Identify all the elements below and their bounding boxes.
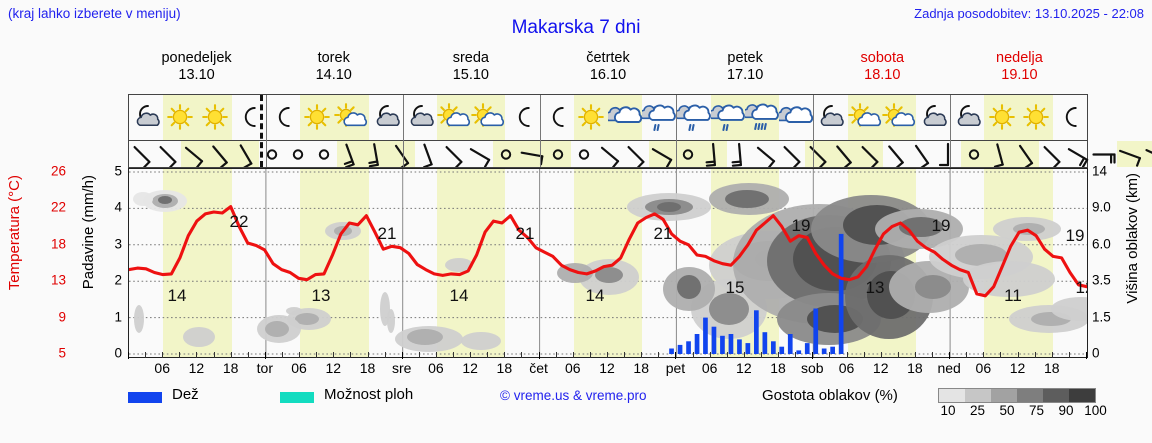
- x-axis-tick-label: 18: [770, 360, 786, 376]
- legend-swatch-showers: [280, 392, 314, 403]
- wind-barb: [831, 141, 857, 167]
- x-axis-tick: [470, 352, 471, 358]
- x-axis-tick: [556, 352, 557, 358]
- x-axis-tick-label: 06: [154, 360, 170, 376]
- sun-cloud-icon: [882, 95, 916, 140]
- wind-barb: [415, 141, 441, 167]
- x-axis-tick: [504, 352, 505, 358]
- cloud-density-tick-label: 90: [1058, 403, 1073, 418]
- wind-barb: [519, 141, 545, 167]
- wind-barb: [233, 141, 259, 167]
- sun-icon: [574, 95, 608, 140]
- day-header-strip: ponedeljek13.10torek14.10sreda15.10četrt…: [128, 50, 1088, 92]
- cloud-drizzle-icon: [711, 95, 745, 140]
- sun-cloud-icon: [437, 95, 471, 140]
- sun-icon: [1019, 95, 1053, 140]
- cloud-density-swatch: [1069, 389, 1095, 402]
- axis-tick-label: 0: [114, 346, 122, 361]
- x-axis-labels: 061218tor061218sre061218čet061218pet0612…: [118, 360, 1098, 380]
- wind-barb: [961, 141, 987, 167]
- weather-plot: 142213211421142115191319111912: [128, 168, 1088, 358]
- x-axis-tick: [350, 352, 351, 358]
- moon-icon: [540, 95, 574, 140]
- x-axis-tick: [436, 352, 437, 358]
- svg-text:14: 14: [586, 286, 605, 305]
- wind-barb: [571, 141, 597, 167]
- sun-cloud-icon: [334, 95, 368, 140]
- day-header-četrtek: četrtek16.10: [539, 50, 676, 92]
- x-axis-tick-label: 12: [1010, 360, 1026, 376]
- x-axis-ticks: [128, 352, 1088, 359]
- sun-icon: [984, 95, 1018, 140]
- day-date: 16.10: [539, 67, 676, 84]
- axis-tick-label: 2: [114, 273, 122, 288]
- moon-icon: [266, 95, 300, 140]
- x-axis-tick-label: 06: [839, 360, 855, 376]
- x-axis-tick: [1086, 352, 1087, 359]
- wind-barb: [623, 141, 649, 167]
- day-separator: [813, 95, 814, 167]
- day-name: četrtek: [586, 50, 630, 66]
- cloud-density-tick-label: 75: [1029, 403, 1044, 418]
- cloud-density-swatch: [939, 389, 965, 402]
- axis-tick-label: 0: [1092, 346, 1100, 361]
- x-axis-tick: [607, 352, 608, 358]
- x-axis-tick-label: 18: [360, 360, 376, 376]
- wind-barb: [857, 141, 883, 167]
- x-axis-tick: [248, 352, 249, 358]
- x-axis-tick-label: tor: [257, 360, 273, 376]
- svg-text:19: 19: [1066, 226, 1085, 245]
- x-axis-tick: [778, 352, 779, 358]
- cloud-height-axis-title: Višina oblakov (km): [1124, 173, 1148, 358]
- legend-label-showers: Možnost ploh: [324, 386, 413, 403]
- axis-tick-label: 13: [51, 273, 66, 288]
- x-axis-tick-label: 06: [976, 360, 992, 376]
- wind-barb: [155, 141, 181, 167]
- x-axis-tick: [265, 352, 266, 359]
- cloud-icon: [608, 95, 642, 140]
- cloud-icon: [779, 95, 813, 140]
- x-axis-tick-label: 12: [599, 360, 615, 376]
- cloud-density-label: Gostota oblakov (%): [762, 387, 898, 404]
- wind-barb: [363, 141, 389, 167]
- wind-barb-row: [129, 140, 1087, 167]
- x-axis-tick: [282, 352, 283, 358]
- wind-barb: [259, 141, 285, 167]
- precipitation-axis-ticks: 543210: [100, 168, 124, 358]
- precipitation-axis-title: Padavine (mm/h): [80, 175, 102, 355]
- wind-barb: [207, 141, 233, 167]
- day-name: petek: [727, 50, 762, 66]
- x-axis-tick: [487, 352, 488, 358]
- x-axis-tick-label: 12: [462, 360, 478, 376]
- cloud-density-tick-label: 10: [940, 403, 955, 418]
- day-header-sobota: sobota18.10: [814, 50, 951, 92]
- x-axis-tick: [539, 352, 540, 359]
- wind-barb: [805, 141, 831, 167]
- x-axis-tick: [795, 352, 796, 358]
- svg-text:19: 19: [932, 216, 951, 235]
- cloud-height-axis-title-text: Višina oblakov (km): [1124, 173, 1141, 304]
- x-axis-tick: [316, 352, 317, 358]
- x-axis-tick: [128, 352, 129, 359]
- svg-text:22: 22: [230, 212, 249, 231]
- wind-barb: [1117, 141, 1143, 167]
- wind-barb: [181, 141, 207, 167]
- x-axis-tick-label: sre: [392, 360, 411, 376]
- x-axis-tick: [864, 352, 865, 358]
- moon-cloud-icon: [129, 95, 163, 140]
- x-axis-tick: [368, 352, 369, 358]
- moon-cloud-icon: [950, 95, 984, 140]
- x-axis-tick: [231, 352, 232, 358]
- axis-tick-label: 26: [51, 164, 66, 179]
- wind-barb: [597, 141, 623, 167]
- moon-cloud-icon: [369, 95, 403, 140]
- x-axis-tick: [761, 352, 762, 358]
- day-header-nedelja: nedelja19.10: [951, 50, 1088, 92]
- day-date: 15.10: [402, 67, 539, 84]
- temperature-axis-title-text: Temperatura (°C): [6, 175, 23, 290]
- svg-text:21: 21: [378, 224, 397, 243]
- wind-barb: [1039, 141, 1065, 167]
- x-axis-tick: [573, 352, 574, 358]
- svg-text:11: 11: [1004, 286, 1022, 305]
- x-axis-tick-label: 18: [907, 360, 923, 376]
- temperature-axis-title: Temperatura (°C): [6, 175, 28, 355]
- wind-barb: [675, 141, 701, 167]
- wind-barb: [753, 141, 779, 167]
- axis-tick-label: 4: [114, 200, 122, 215]
- x-axis-tick: [829, 352, 830, 358]
- cloud-density-swatch: [1017, 389, 1043, 402]
- cloud-rain-icon: [745, 95, 779, 140]
- x-axis-tick: [915, 352, 916, 358]
- sun-icon: [197, 95, 231, 140]
- x-axis-tick: [1018, 352, 1019, 358]
- x-axis-tick: [333, 352, 334, 358]
- day-header-petek: petek17.10: [677, 50, 814, 92]
- day-separator: [540, 95, 541, 167]
- x-axis-tick-label: ned: [937, 360, 960, 376]
- weather-icon-row: [129, 95, 1087, 140]
- wind-barb: [337, 141, 363, 167]
- cloud-drizzle-icon: [677, 95, 711, 140]
- day-name: nedelja: [996, 50, 1043, 66]
- last-update-label: Zadnja posodobitev: 13.10.2025 - 22:08: [914, 6, 1144, 21]
- plot-canvas: 142213211421142115191319111912: [129, 169, 1087, 357]
- cloud-density-tick-label: 25: [970, 403, 985, 418]
- wind-barb: [311, 141, 337, 167]
- x-axis-tick: [590, 352, 591, 358]
- x-axis-tick-label: sob: [801, 360, 824, 376]
- x-axis-tick: [214, 352, 215, 358]
- x-axis-tick: [385, 352, 386, 358]
- axis-tick-label: 22: [51, 200, 66, 215]
- svg-text:21: 21: [516, 224, 535, 243]
- x-axis-tick-label: 12: [873, 360, 889, 376]
- x-axis-tick: [162, 352, 163, 358]
- copyright-link[interactable]: © vreme.us & vreme.pro: [500, 388, 647, 403]
- day-name: sreda: [453, 50, 489, 66]
- x-axis-tick: [675, 352, 676, 359]
- x-axis-tick: [966, 352, 967, 358]
- current-time-line: [260, 95, 263, 167]
- wind-barb: [545, 141, 571, 167]
- wind-barb: [883, 141, 909, 167]
- day-name: torek: [318, 50, 350, 66]
- x-axis-tick: [932, 352, 933, 358]
- x-axis-tick-label: čet: [529, 360, 548, 376]
- x-axis-tick-label: 12: [189, 360, 205, 376]
- axis-tick-label: 3.5: [1092, 273, 1111, 288]
- x-axis-tick-label: 06: [291, 360, 307, 376]
- day-name: sobota: [861, 50, 905, 66]
- day-separator: [266, 95, 267, 167]
- x-axis-tick: [1052, 352, 1053, 358]
- day-date: 19.10: [951, 67, 1088, 84]
- axis-tick-label: 9: [58, 309, 66, 324]
- wind-barb: [467, 141, 493, 167]
- x-axis-tick-label: 12: [736, 360, 752, 376]
- wind-barb: [1065, 141, 1091, 167]
- icon-wind-band: [128, 94, 1088, 168]
- moon-icon: [505, 95, 539, 140]
- x-axis-tick: [983, 352, 984, 358]
- svg-text:13: 13: [312, 286, 331, 305]
- cloud-density-swatch: [1043, 389, 1069, 402]
- sun-cloud-icon: [471, 95, 505, 140]
- wind-barb: [1013, 141, 1039, 167]
- x-axis-tick-label: 06: [428, 360, 444, 376]
- day-separator: [403, 95, 404, 167]
- sun-icon: [300, 95, 334, 140]
- x-axis-tick: [419, 352, 420, 358]
- axis-tick-label: 3: [114, 236, 122, 251]
- x-axis-tick: [898, 352, 899, 358]
- day-date: 14.10: [265, 67, 402, 84]
- axis-tick-label: 5: [58, 346, 66, 361]
- wind-barb: [441, 141, 467, 167]
- svg-text:13: 13: [866, 278, 885, 297]
- wind-barb: [935, 141, 961, 167]
- x-axis-tick: [693, 352, 694, 358]
- x-axis-tick-label: 06: [702, 360, 718, 376]
- wind-barb: [493, 141, 519, 167]
- day-name: ponedeljek: [161, 50, 231, 66]
- wind-barb: [701, 141, 727, 167]
- svg-text:19: 19: [792, 216, 811, 235]
- wind-barb: [779, 141, 805, 167]
- axis-tick-label: 14: [1092, 164, 1107, 179]
- x-axis-tick: [641, 352, 642, 358]
- x-axis-tick: [949, 352, 950, 359]
- x-axis-tick: [710, 352, 711, 358]
- svg-text:12: 12: [1076, 278, 1087, 297]
- x-axis-tick: [299, 352, 300, 358]
- x-axis-tick-label: 18: [223, 360, 239, 376]
- axis-tick-label: 9.0: [1092, 200, 1111, 215]
- cloud-density-tick-label: 50: [999, 403, 1014, 418]
- x-axis-tick-label: 18: [497, 360, 513, 376]
- x-axis-tick-label: pet: [666, 360, 685, 376]
- x-axis-tick: [145, 352, 146, 358]
- axis-tick-label: 1: [114, 309, 122, 324]
- legend-swatch-rain: [128, 392, 162, 403]
- sun-cloud-icon: [848, 95, 882, 140]
- x-axis-tick: [402, 352, 403, 359]
- cloud-height-axis-ticks: 149.06.03.51.50: [1092, 168, 1126, 358]
- x-axis-tick: [847, 352, 848, 358]
- x-axis-tick-label: 12: [325, 360, 341, 376]
- axis-tick-label: 5: [114, 164, 122, 179]
- svg-text:14: 14: [168, 286, 187, 305]
- sun-icon: [163, 95, 197, 140]
- x-axis-tick-label: 18: [1044, 360, 1060, 376]
- x-axis-tick: [881, 352, 882, 358]
- moon-cloud-icon: [403, 95, 437, 140]
- x-axis-tick: [1069, 352, 1070, 358]
- x-axis-tick: [1000, 352, 1001, 358]
- precipitation-axis-title-text: Padavine (mm/h): [80, 175, 97, 289]
- wind-barb: [649, 141, 675, 167]
- x-axis-tick-label: 18: [633, 360, 649, 376]
- moon-cloud-icon: [813, 95, 847, 140]
- axis-tick-label: 18: [51, 236, 66, 251]
- day-header-torek: torek14.10: [265, 50, 402, 92]
- temperature-axis-ticks: 2622181395: [34, 168, 66, 358]
- cloud-drizzle-icon: [642, 95, 676, 140]
- cloud-density-swatch: [965, 389, 991, 402]
- x-axis-tick: [196, 352, 197, 358]
- x-axis-tick-label: 06: [565, 360, 581, 376]
- svg-text:15: 15: [726, 278, 745, 297]
- x-axis-tick: [624, 352, 625, 358]
- x-axis-tick: [179, 352, 180, 358]
- cloud-density-colorbar: [938, 388, 1096, 403]
- x-axis-tick: [812, 352, 813, 359]
- x-axis-tick: [727, 352, 728, 358]
- day-separator: [676, 95, 677, 167]
- moon-icon: [1053, 95, 1087, 140]
- day-date: 18.10: [814, 67, 951, 84]
- x-axis-tick: [521, 352, 522, 358]
- wind-barb: [285, 141, 311, 167]
- x-axis-tick: [744, 352, 745, 358]
- cloud-density-tick-label: 100: [1084, 403, 1107, 418]
- wind-barb: [1143, 141, 1152, 167]
- legend-label-rain: Dež: [172, 386, 199, 403]
- day-header-sreda: sreda15.10: [402, 50, 539, 92]
- x-axis-tick: [658, 352, 659, 358]
- day-date: 13.10: [128, 67, 265, 84]
- x-axis-tick: [1035, 352, 1036, 358]
- svg-text:21: 21: [654, 224, 673, 243]
- wind-barb: [129, 141, 155, 167]
- moon-cloud-icon: [916, 95, 950, 140]
- wind-barb: [909, 141, 935, 167]
- svg-text:14: 14: [450, 286, 469, 305]
- day-header-ponedeljek: ponedeljek13.10: [128, 50, 265, 92]
- wind-barb: [727, 141, 753, 167]
- axis-tick-label: 1.5: [1092, 309, 1111, 324]
- axis-tick-label: 6.0: [1092, 236, 1111, 251]
- x-axis-tick: [453, 352, 454, 358]
- cloud-density-colorbar-ticks: 1025507590100: [934, 403, 1109, 421]
- cloud-density-swatch: [991, 389, 1017, 402]
- day-date: 17.10: [677, 67, 814, 84]
- day-separator: [950, 95, 951, 167]
- chart-legend: Dež Možnost ploh © vreme.us & vreme.pro …: [128, 386, 1148, 426]
- wind-barb: [987, 141, 1013, 167]
